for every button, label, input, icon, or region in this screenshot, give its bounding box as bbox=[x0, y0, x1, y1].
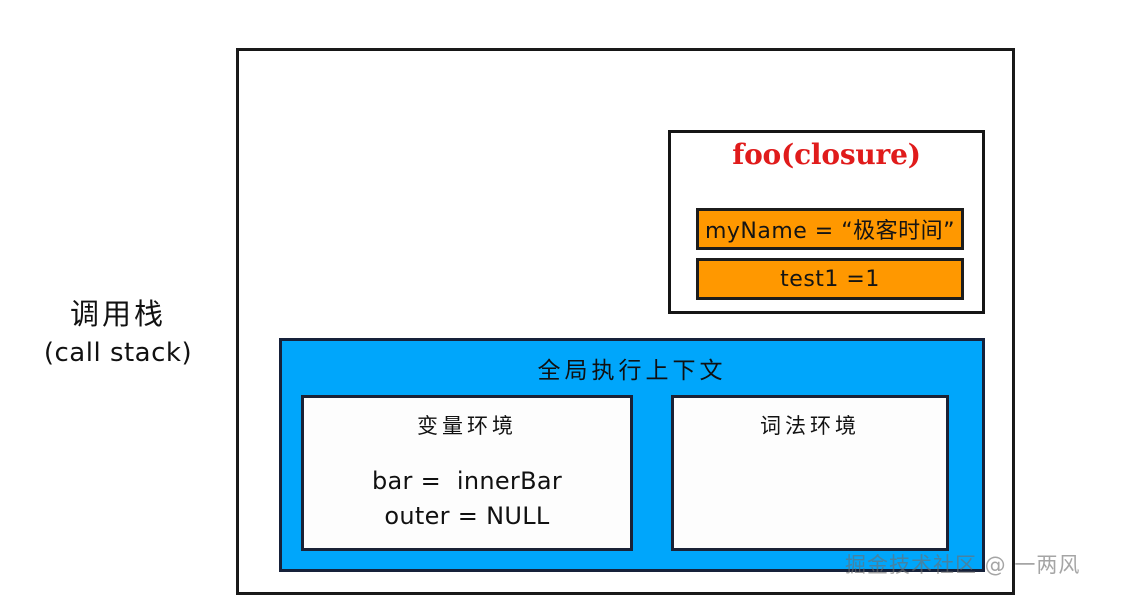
closure-variable-myname-label: myName = “极客时间” bbox=[705, 213, 955, 245]
call-stack-label-cn: 调用栈 bbox=[0, 296, 236, 333]
variable-environment-entry-bar: bar = innerBar bbox=[304, 464, 630, 499]
variable-environment-title: 变量环境 bbox=[304, 410, 630, 440]
call-stack-label: 调用栈 (call stack) bbox=[0, 296, 236, 370]
closure-variable-myname: myName = “极客时间” bbox=[696, 208, 964, 250]
global-execution-context-title: 全局执行上下文 bbox=[282, 351, 982, 385]
variable-environment-entries: bar = innerBar outer = NULL bbox=[304, 464, 630, 534]
call-stack-label-en: (call stack) bbox=[0, 337, 236, 370]
foo-closure-frame: foo(closure) myName = “极客时间” test1 =1 bbox=[668, 130, 985, 314]
foo-closure-title: foo(closure) bbox=[671, 138, 982, 171]
closure-variable-test1: test1 =1 bbox=[696, 258, 964, 300]
variable-environment-box: 变量环境 bar = innerBar outer = NULL bbox=[301, 395, 633, 551]
lexical-environment-box: 词法环境 bbox=[671, 395, 949, 551]
variable-environment-entry-outer: outer = NULL bbox=[304, 499, 630, 534]
lexical-environment-title: 词法环境 bbox=[674, 410, 946, 440]
global-execution-context-frame: 全局执行上下文 变量环境 bar = innerBar outer = NULL… bbox=[279, 338, 985, 572]
closure-variable-test1-label: test1 =1 bbox=[780, 267, 880, 292]
